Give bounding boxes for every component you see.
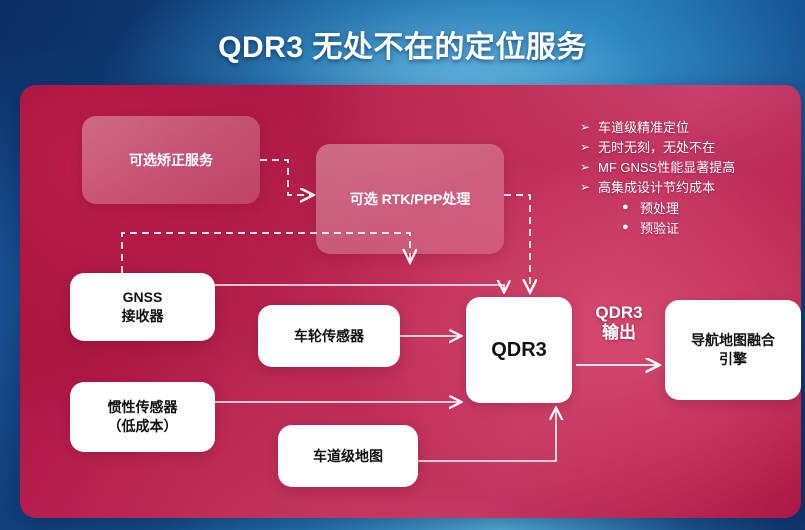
node-qdr3-label: QDR3 (491, 337, 547, 364)
node-wheel-sensor[interactable]: 车轮传感器 (258, 305, 400, 367)
connector-lanemap-to-qdr3 (418, 409, 556, 461)
node-correction-service[interactable]: 可选矫正服务 (82, 116, 260, 204)
chevron-bullet-icon: ➢ (580, 178, 598, 197)
node-rtk-ppp[interactable]: 可选 RTK/PPP处理 (316, 144, 504, 254)
node-gnss-receiver-label-1: GNSS (122, 288, 164, 307)
node-inertial-sensor[interactable]: 惯性传感器 （低成本） (70, 382, 215, 452)
sub-bullet-item-label: 预验证 (640, 219, 679, 239)
bullet-item-label: 高集成设计节约成本 (598, 178, 715, 198)
connector-correction-to-rtk (260, 160, 312, 195)
feature-bullet-list: ➢ 车道级精准定位 ➢ 无时无刻，无处不在 ➢ MF GNSS性能显著提高 ➢ … (580, 118, 795, 239)
bullet-item-label: 无时无刻，无处不在 (598, 138, 715, 158)
sub-bullet-item: ● 预验证 (622, 219, 795, 239)
node-inertial-sensor-label-2: （低成本） (108, 417, 178, 436)
node-nav-engine-label-1: 导航地图融合 (691, 331, 775, 350)
bullet-item: ➢ 高集成设计节约成本 (580, 178, 795, 198)
node-lane-map[interactable]: 车道级地图 (278, 425, 418, 487)
dot-bullet-icon: ● (622, 219, 640, 236)
bullet-item-label: MF GNSS性能显著提高 (598, 158, 735, 178)
node-wheel-sensor-label: 车轮传感器 (294, 327, 364, 346)
dot-bullet-icon: ● (622, 199, 640, 216)
node-gnss-receiver[interactable]: GNSS 接收器 (70, 273, 215, 341)
sub-bullet-item-label: 预处理 (640, 199, 679, 219)
bullet-item-label: 车道级精准定位 (598, 118, 689, 138)
chevron-bullet-icon: ➢ (580, 138, 598, 157)
node-navigation-map-fusion-engine[interactable]: 导航地图融合 引擎 (665, 300, 801, 400)
bullet-item: ➢ 车道级精准定位 (580, 118, 795, 138)
node-nav-engine-label-2: 引擎 (691, 350, 775, 369)
chevron-bullet-icon: ➢ (580, 158, 598, 177)
qdr3-output-label-line2: 输出 (576, 323, 662, 343)
chevron-bullet-icon: ➢ (580, 118, 598, 137)
connector-rtk-to-qdr3 (504, 195, 530, 291)
slide-canvas: QDR3 无处不在的定位服务 (0, 0, 805, 530)
qdr3-output-label: QDR3 输出 (576, 303, 662, 344)
node-qdr3[interactable]: QDR3 (466, 297, 572, 403)
diagram-panel: 可选矫正服务 可选 RTK/PPP处理 GNSS 接收器 车轮传感器 惯性传感器… (20, 85, 801, 518)
qdr3-output-label-line1: QDR3 (576, 303, 662, 323)
bullet-item: ➢ 无时无刻，无处不在 (580, 138, 795, 158)
sub-bullet-item: ● 预处理 (622, 199, 795, 219)
node-lane-map-label: 车道级地图 (313, 447, 383, 466)
node-correction-service-label: 可选矫正服务 (129, 150, 213, 170)
node-gnss-receiver-label-2: 接收器 (122, 307, 164, 326)
node-rtk-ppp-label: 可选 RTK/PPP处理 (350, 189, 471, 209)
connector-gnss-to-qdr3 (215, 285, 504, 291)
bullet-item: ➢ MF GNSS性能显著提高 (580, 158, 795, 178)
page-title: QDR3 无处不在的定位服务 (0, 22, 805, 66)
node-inertial-sensor-label-1: 惯性传感器 (108, 398, 178, 417)
